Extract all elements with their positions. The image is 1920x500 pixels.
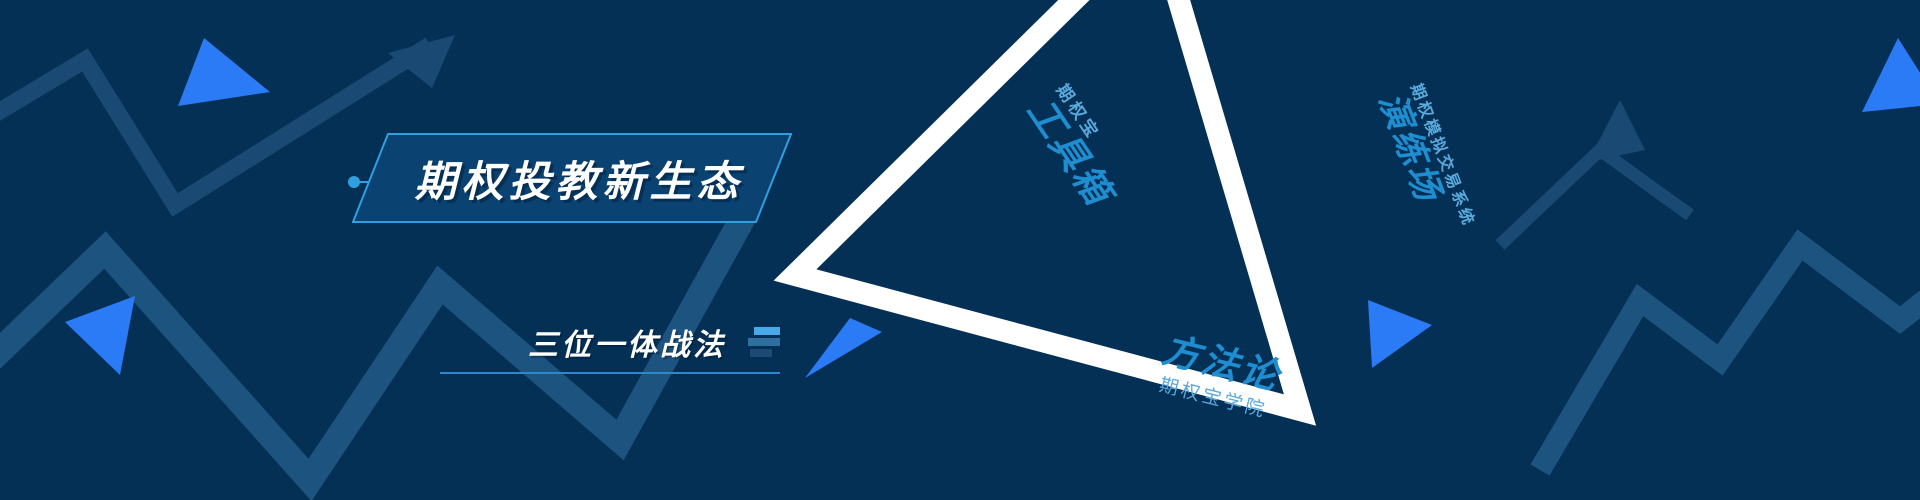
bar-chart-bar-top <box>754 327 780 335</box>
subtitle-row: 三位一体战法 <box>440 318 780 366</box>
promo-banner: 期权宝 工具箱 期权模拟交易系统 演练场 方法论 期权宝学院 期权投教新生态 三… <box>0 0 1920 500</box>
bar-chart-icon <box>744 325 780 359</box>
page-title: 期权投教新生态 <box>352 133 792 223</box>
bar-chart-bar-bottom <box>750 349 772 357</box>
subtitle-divider <box>440 372 780 374</box>
strategy-triangle <box>0 0 1920 500</box>
subtitle-text: 三位一体战法 <box>528 320 726 364</box>
title-banner: 期权投教新生态 <box>352 133 792 223</box>
bar-chart-bar-middle <box>748 338 780 346</box>
